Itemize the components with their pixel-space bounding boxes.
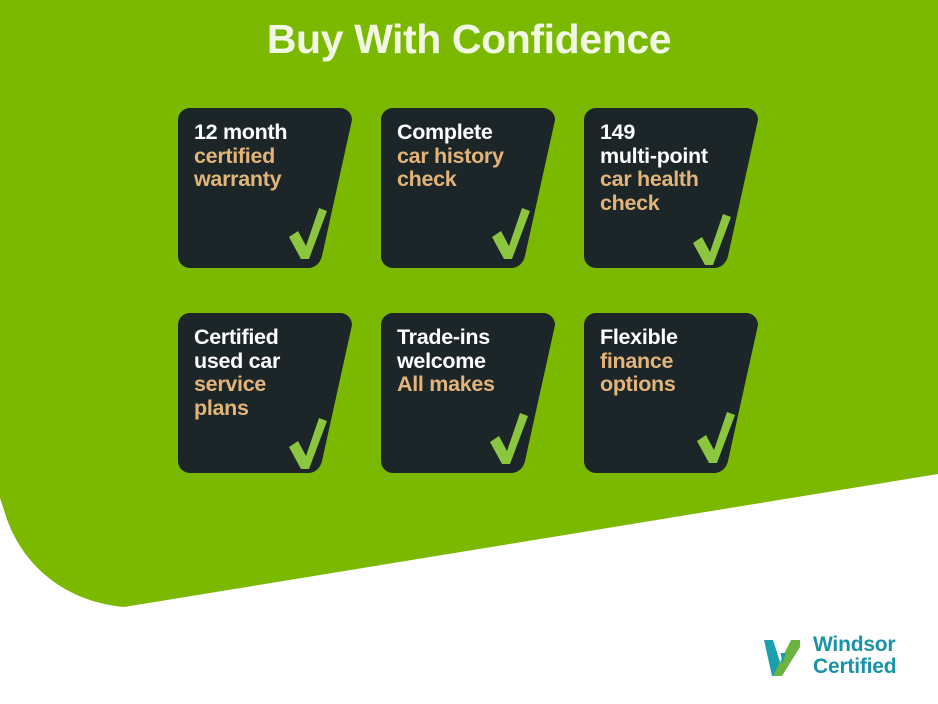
feature-card-service-plans[interactable]: Certified used car service plans <box>178 313 352 473</box>
card-line-tan: service <box>194 373 336 397</box>
card-line-tan: car history <box>397 145 539 169</box>
feature-card-multi-point-check[interactable]: 149 multi-point car health check <box>584 108 758 268</box>
feature-card-warranty[interactable]: 12 month certified warranty <box>178 108 352 268</box>
windsor-w-mark-icon <box>760 634 804 678</box>
logo-line-1: Windsor <box>813 634 896 656</box>
card-text: 12 month certified warranty <box>194 121 336 192</box>
card-line-white: 12 month <box>194 121 336 145</box>
card-line-white: Complete <box>397 121 539 145</box>
card-line-tan: All makes <box>397 373 539 397</box>
card-line-tan: warranty <box>194 168 336 192</box>
card-line-tan: certified <box>194 145 336 169</box>
card-line-tan: finance <box>600 350 742 374</box>
logo-line-2: Certified <box>813 656 896 678</box>
feature-card-trade-ins[interactable]: Trade-ins welcome All makes <box>381 313 555 473</box>
feature-card-finance-options[interactable]: Flexible finance options <box>584 313 758 473</box>
card-text: 149 multi-point car health check <box>600 121 742 216</box>
card-line-tan: check <box>600 192 742 216</box>
card-line-white: multi-point <box>600 145 742 169</box>
card-text: Complete car history check <box>397 121 539 192</box>
card-line-white: Trade-ins <box>397 326 539 350</box>
windsor-certified-logo[interactable]: Windsor Certified <box>760 629 928 683</box>
card-line-white: welcome <box>397 350 539 374</box>
card-line-tan: options <box>600 373 742 397</box>
card-line-white: Certified <box>194 326 336 350</box>
card-line-white: Flexible <box>600 326 742 350</box>
feature-card-grid: 12 month certified warranty Complete car… <box>178 108 758 473</box>
page-title: Buy With Confidence <box>0 16 938 63</box>
card-text: Flexible finance options <box>600 326 742 397</box>
card-text: Trade-ins welcome All makes <box>397 326 539 397</box>
logo-wordmark: Windsor Certified <box>813 634 896 679</box>
feature-card-car-history-check[interactable]: Complete car history check <box>381 108 555 268</box>
card-text: Certified used car service plans <box>194 326 336 421</box>
card-line-white: 149 <box>600 121 742 145</box>
card-line-tan: check <box>397 168 539 192</box>
card-line-white: used car <box>194 350 336 374</box>
poster-canvas: Buy With Confidence 12 month certified w… <box>0 0 938 704</box>
card-line-tan: car health <box>600 168 742 192</box>
card-line-tan: plans <box>194 397 336 421</box>
